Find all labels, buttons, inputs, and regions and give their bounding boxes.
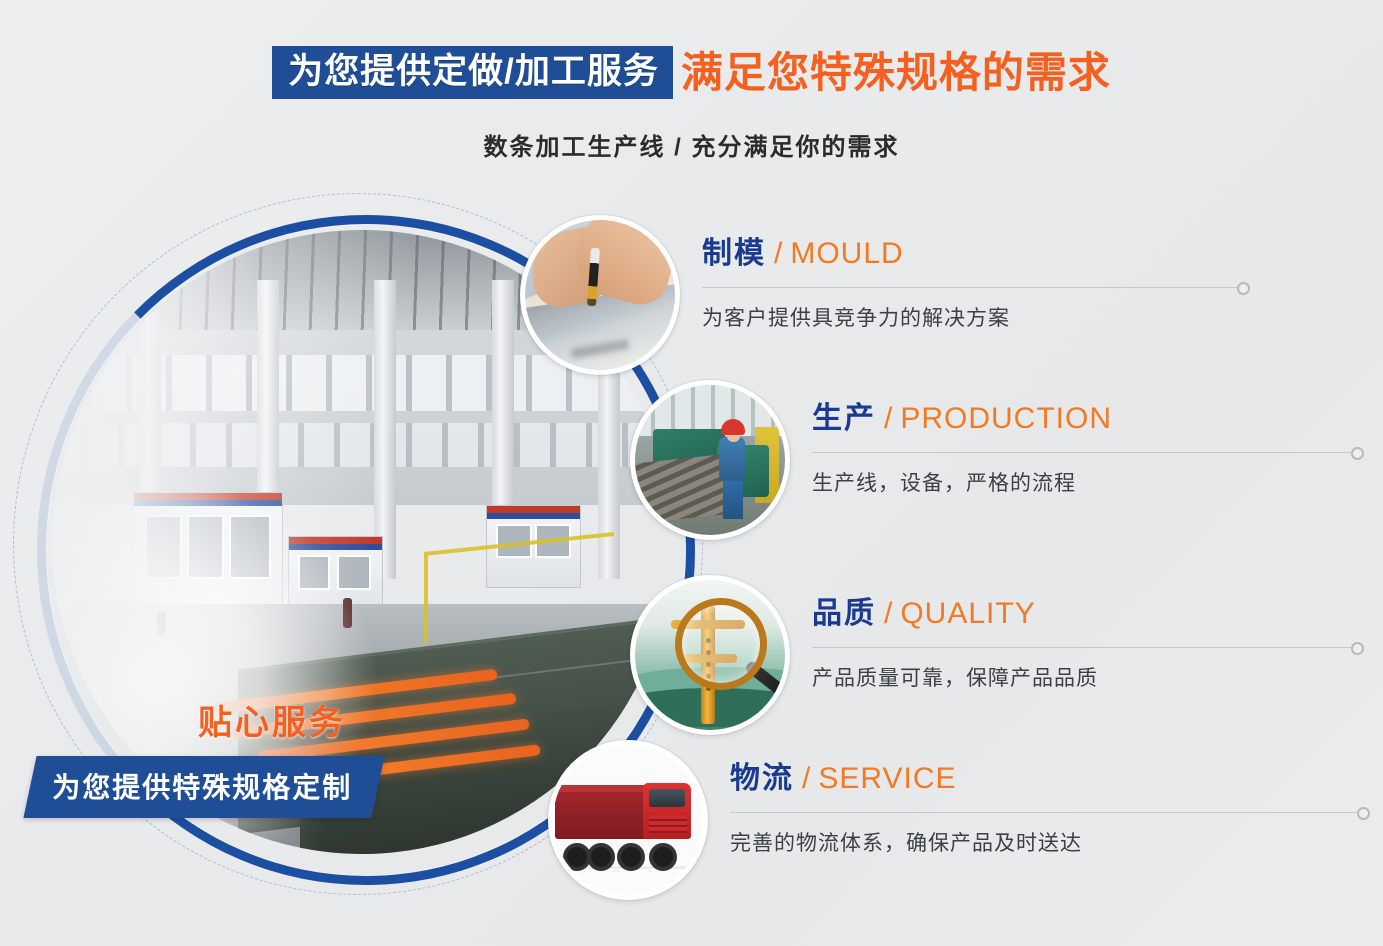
header-badge: 为您提供定做/加工服务 [272, 46, 673, 99]
magnifier-caliper-icon [630, 575, 790, 735]
feature-title-en: MOULD [790, 237, 903, 270]
feature-title-separator: / [802, 762, 810, 795]
feature-description: 生产线，设备，严格的流程 [812, 467, 1383, 497]
feature-description: 产品质量可靠，保障产品品质 [812, 662, 1383, 692]
feature-title-cn: 品质 [812, 597, 876, 630]
feature-item-service[interactable]: 物流/SERVICE 完善的物流体系，确保产品及时送达 [548, 740, 1383, 900]
feature-title-separator: / [884, 402, 892, 435]
feature-title: 品质/QUALITY [812, 599, 1383, 629]
feature-title: 制模/MOULD [702, 239, 1362, 269]
header-subhead: 数条加工生产线 / 充分满足你的需求 [0, 127, 1383, 162]
feature-item-production[interactable]: 生产/PRODUCTION 生产线，设备，严格的流程 [630, 380, 1383, 540]
feature-title-separator: / [884, 597, 892, 630]
feature-title-cn: 制模 [702, 237, 766, 270]
feature-title-cn: 物流 [730, 762, 794, 795]
divider-end-dot [1351, 642, 1364, 655]
feature-title-cn: 生产 [812, 402, 876, 435]
feature-item-quality[interactable]: 品质/QUALITY 产品质量可靠，保障产品品质 [630, 575, 1383, 735]
feature-title-en: QUALITY [900, 597, 1035, 630]
feature-list: 制模/MOULD 为客户提供具竞争力的解决方案 [520, 200, 1383, 920]
feature-divider [812, 647, 1352, 648]
delivery-truck-icon [548, 740, 708, 900]
pen-drafting-icon [520, 215, 680, 375]
feature-title: 生产/PRODUCTION [812, 404, 1383, 434]
header-headline: 满足您特殊规格的需求 [681, 52, 1111, 94]
divider-end-dot [1357, 807, 1370, 820]
header: 为您提供定做/加工服务 满足您特殊规格的需求 数条加工生产线 / 充分满足你的需… [0, 46, 1383, 162]
feature-description: 为客户提供具竞争力的解决方案 [702, 302, 1362, 332]
feature-title-en: SERVICE [818, 762, 956, 795]
promo-banner: 为您提供定做/加工服务 满足您特殊规格的需求 数条加工生产线 / 充分满足你的需… [0, 0, 1383, 946]
feature-title-separator: / [774, 237, 782, 270]
feature-divider [702, 287, 1238, 288]
feature-item-mould[interactable]: 制模/MOULD 为客户提供具竞争力的解决方案 [520, 215, 1362, 375]
feature-divider [730, 812, 1358, 813]
feature-title: 物流/SERVICE [730, 764, 1383, 794]
headline-row: 为您提供定做/加工服务 满足您特殊规格的需求 [0, 46, 1383, 99]
divider-end-dot [1237, 282, 1250, 295]
factory-worker-icon [630, 380, 790, 540]
divider-end-dot [1351, 447, 1364, 460]
feature-divider [812, 452, 1352, 453]
caption-banner-label: 为您提供特殊规格定制 [52, 766, 352, 806]
feature-title-en: PRODUCTION [900, 402, 1112, 435]
caption-banner: 为您提供特殊规格定制 [23, 756, 384, 818]
service-caption: 贴心服务 为您提供特殊规格定制 [30, 695, 450, 818]
feature-description: 完善的物流体系，确保产品及时送达 [730, 827, 1383, 857]
caption-title: 贴心服务 [30, 695, 450, 744]
